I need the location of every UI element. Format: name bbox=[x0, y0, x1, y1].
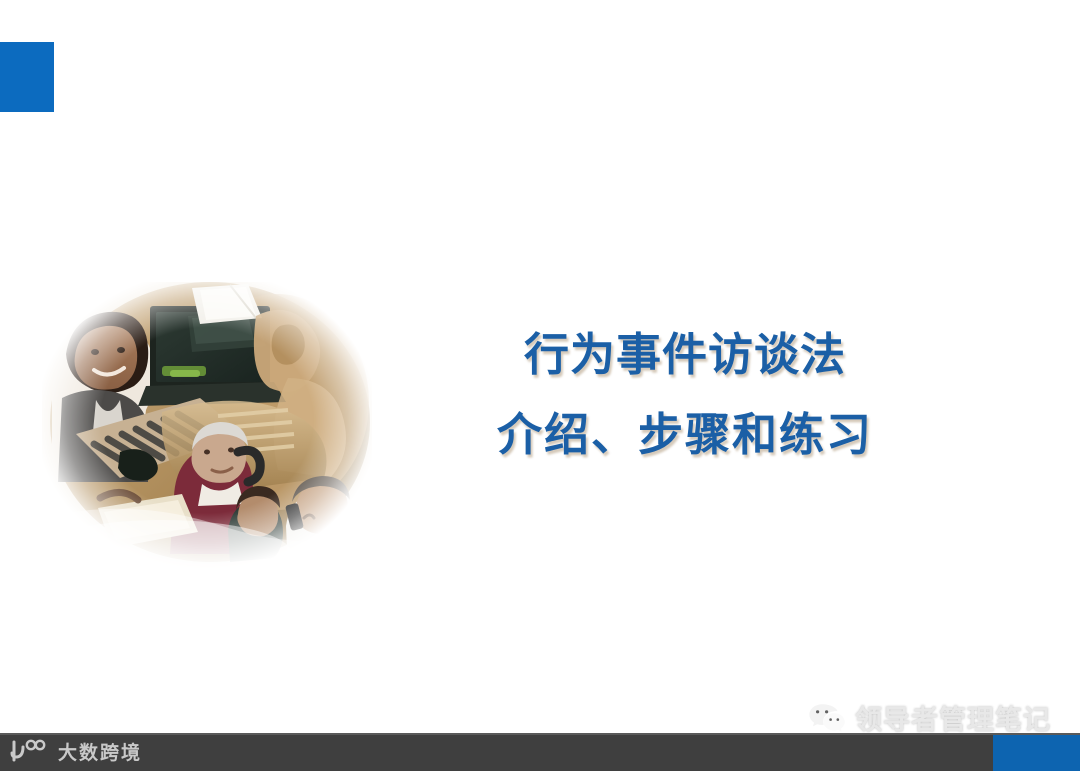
footer-brand-label: 大数跨境 bbox=[58, 738, 142, 765]
business-people-collage bbox=[42, 282, 372, 570]
watermark-label: 领导者管理笔记 bbox=[855, 698, 1051, 737]
title-line-1: 行为事件访谈法 bbox=[430, 315, 940, 395]
slide-title: 行为事件访谈法 介绍、步骤和练习 bbox=[430, 315, 940, 475]
footer-bar bbox=[0, 733, 1080, 771]
wechat-icon bbox=[808, 702, 846, 734]
title-line-2: 介绍、步骤和练习 bbox=[430, 395, 940, 475]
slide-canvas: 行为事件访谈法 介绍、步骤和练习 领导者管理笔记 bbox=[0, 0, 1080, 771]
footer-accent-block bbox=[993, 735, 1080, 771]
dashukuajing-logo-icon bbox=[8, 738, 50, 764]
footer-brand: 大数跨境 bbox=[8, 736, 142, 766]
top-left-accent-block bbox=[0, 42, 54, 112]
wechat-watermark: 领导者管理笔记 bbox=[808, 698, 1051, 737]
